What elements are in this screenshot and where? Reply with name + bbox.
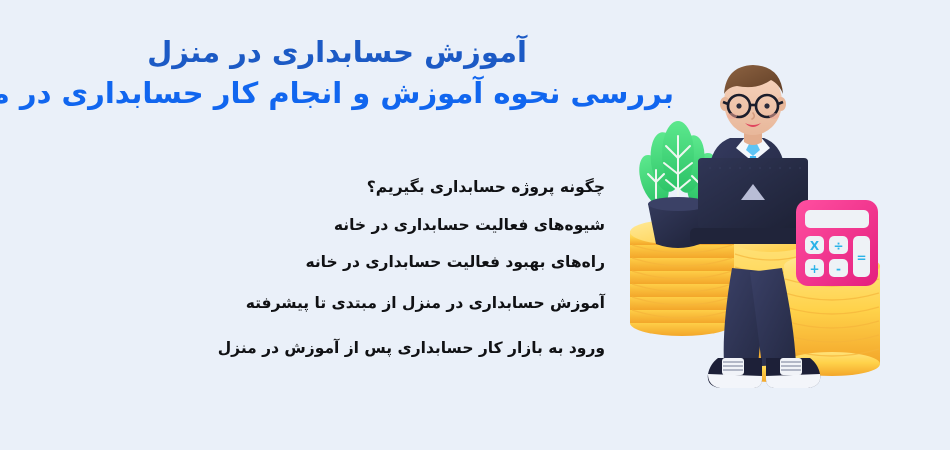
sneaker-left-icon: [708, 358, 762, 388]
list-item: چگونه پروژه حسابداری بگیریم؟: [225, 178, 605, 197]
list-item: شیوه‌های فعالیت حسابداری در خانه: [225, 216, 605, 235]
svg-text:+: +: [809, 262, 819, 276]
page-title-line-2: بررسی نحوه آموزش و انجام کار حسابداری در…: [0, 72, 674, 114]
sneaker-right-icon: [766, 358, 820, 388]
list-item: ورود به بازار کار حسابداری پس از آموزش د…: [225, 339, 605, 358]
svg-text:=: =: [856, 251, 866, 265]
svg-text:X: X: [810, 239, 820, 253]
heading-block: آموزش حسابداری در منزل بررسی نحوه آموزش …: [0, 32, 674, 114]
page-title-line-1: آموزش حسابداری در منزل: [0, 32, 674, 72]
banner-canvas: آموزش حسابداری در منزل بررسی نحوه آموزش …: [0, 0, 950, 450]
svg-text:-: -: [836, 262, 841, 276]
calculator-icon: X ÷ + - =: [796, 200, 878, 286]
svg-text:÷: ÷: [833, 239, 843, 253]
list-item: راه‌های بهبود فعالیت حسابداری در خانه: [225, 253, 605, 272]
list-item: آموزش حسابداری در منزل از مبتدی تا پیشرف…: [225, 294, 605, 313]
topic-list: چگونه پروژه حسابداری بگیریم؟ شیوه‌های فع…: [225, 178, 605, 358]
